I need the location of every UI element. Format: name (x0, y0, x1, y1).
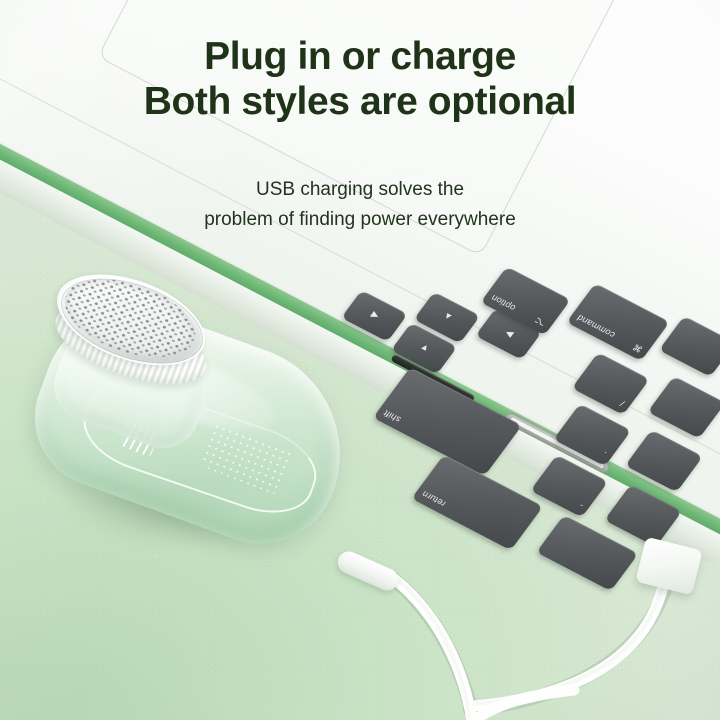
headline-line-1: Plug in or charge (0, 34, 720, 79)
product-marketing-image: ◀ ▲ ▼ ▶ shift return command⌘ option⌥ / … (0, 0, 720, 720)
headline: Plug in or charge Both styles are option… (0, 34, 720, 124)
subtitle-line-2: problem of finding power everywhere (0, 205, 720, 235)
headline-line-2: Both styles are optional (0, 79, 720, 124)
subtitle-line-1: USB charging solves the (0, 175, 720, 205)
subtitle: USB charging solves the problem of findi… (0, 175, 720, 235)
